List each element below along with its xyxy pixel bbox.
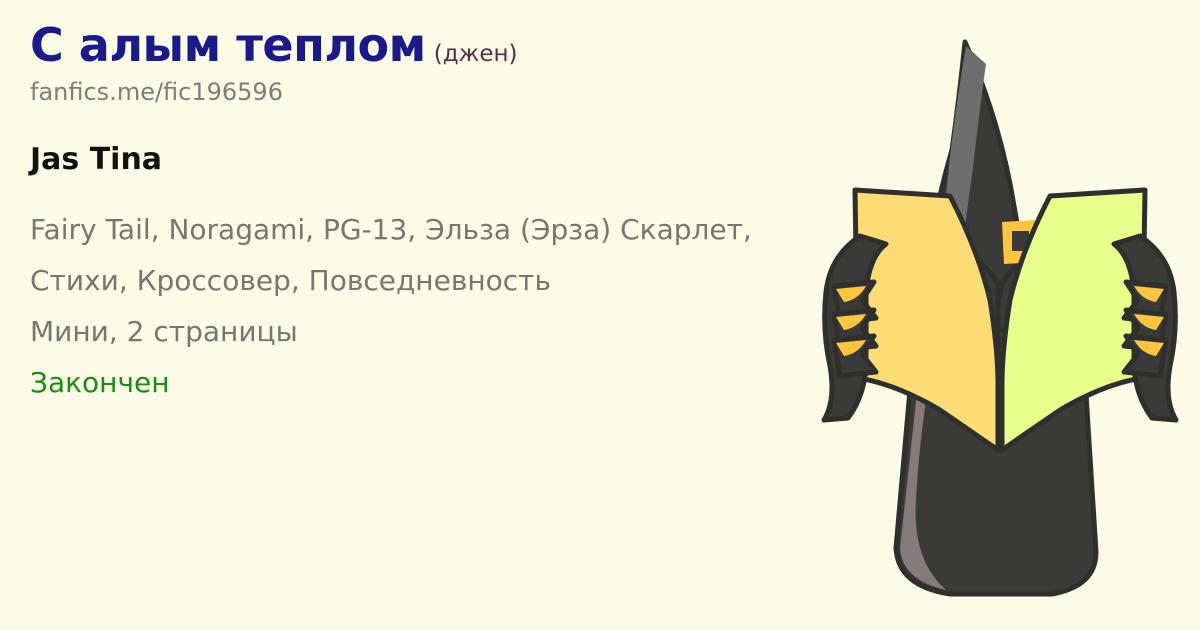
genre-label: (джен) [434,41,518,67]
illustration-witch-reading [800,0,1200,630]
author-name[interactable]: Jas Tina [30,142,162,177]
witch-reading-book-icon [800,0,1200,630]
page-title: С алым теплом [30,18,426,72]
size-info: Мини, 2 страницы [30,306,790,357]
metadata-block: Fairy Tail, Noragami, PG-13, Эльза (Эрза… [30,204,790,408]
source-url[interactable]: fanfics.me/fic196596 [30,78,283,106]
status-badge: Закончен [30,357,790,408]
fanfic-preview-card: С алым теплом(джен) fanfics.me/fic196596… [0,0,1200,630]
tags-list: Fairy Tail, Noragami, PG-13, Эльза (Эрза… [30,204,775,306]
title-row: С алым теплом(джен) [30,18,518,72]
text-column: С алым теплом(джен) fanfics.me/fic196596… [30,0,810,630]
